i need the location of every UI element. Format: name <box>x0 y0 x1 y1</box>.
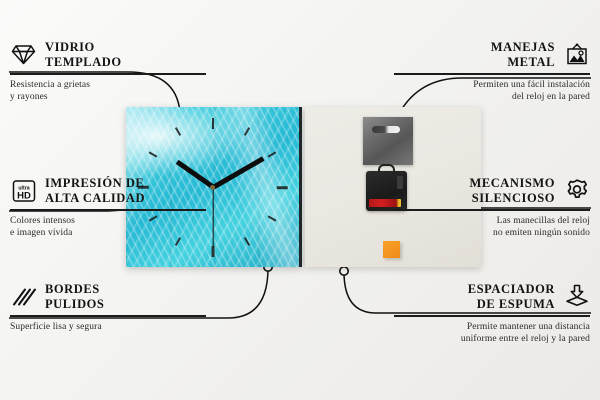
feature-title: MECANISMOSILENCIOSO <box>469 176 555 205</box>
feature-espaciador-espuma[interactable]: ESPACIADORDE ESPUMA Permite mantener una… <box>394 282 590 346</box>
clock-tick <box>212 246 215 257</box>
clock-tick <box>212 118 215 129</box>
press-down-layer-icon <box>563 283 590 310</box>
feature-subtitle: Superficie lisa y segura <box>10 321 206 334</box>
anchor-dot-espaciador <box>340 267 348 275</box>
svg-text:HD: HD <box>17 190 31 201</box>
divider <box>10 209 206 211</box>
feature-title: IMPRESIÓN DEALTA CALIDAD <box>45 176 145 205</box>
hanging-frame-icon <box>563 41 590 68</box>
feature-heading: ESPACIADORDE ESPUMA <box>394 282 590 311</box>
feature-title: BORDESPULIDOS <box>45 282 104 311</box>
movement-hanging-loop <box>378 164 395 173</box>
divider <box>394 315 590 317</box>
feature-subtitle: Colores intensose imagen vívida <box>10 215 206 240</box>
feature-title: ESPACIADORDE ESPUMA <box>468 282 555 311</box>
clock-tick <box>276 186 287 189</box>
divider <box>10 73 206 75</box>
feature-manejas-metal[interactable]: MANEJASMETAL Permiten una fácil instalac… <box>394 40 590 104</box>
infographic-canvas: VIDRIOTEMPLADO Resistencia a grietasy ra… <box>0 0 600 400</box>
feature-subtitle: Permiten una fácil instalacióndel reloj … <box>394 79 590 104</box>
divider <box>394 209 590 211</box>
feature-heading: BORDESPULIDOS <box>10 282 206 311</box>
clock-hub <box>210 185 215 190</box>
hanger-keyhole-slot <box>372 126 400 133</box>
feature-heading: MANEJASMETAL <box>394 40 590 69</box>
foam-spacer-part <box>383 241 400 258</box>
feature-title: MANEJASMETAL <box>491 40 555 69</box>
feature-subtitle: Permite mantener una distanciauniforme e… <box>394 321 590 346</box>
clock-second-hand <box>212 187 213 247</box>
feature-heading: VIDRIOTEMPLADO <box>10 40 206 69</box>
feature-impresion-alta-calidad[interactable]: ultra HD IMPRESIÓN DEALTA CALIDAD Colore… <box>10 176 206 240</box>
feature-bordes-pulidos[interactable]: BORDESPULIDOS Superficie lisa y segura <box>10 282 206 333</box>
feature-title: VIDRIOTEMPLADO <box>45 40 122 69</box>
feature-mecanismo-silencioso[interactable]: MECANISMOSILENCIOSO Las manecillas del r… <box>394 176 590 240</box>
feature-vidrio-templado[interactable]: VIDRIOTEMPLADO Resistencia a grietasy ra… <box>10 40 206 104</box>
feature-subtitle: Resistencia a grietasy rayones <box>10 79 206 104</box>
feature-heading: ultra HD IMPRESIÓN DEALTA CALIDAD <box>10 176 206 205</box>
feature-subtitle: Las manecillas del relojno emiten ningún… <box>394 215 590 240</box>
feature-heading: MECANISMOSILENCIOSO <box>394 176 590 205</box>
gear-icon <box>563 177 590 204</box>
divider <box>394 73 590 75</box>
diamond-icon <box>10 41 37 68</box>
metal-hanger-part <box>363 117 413 165</box>
polished-edges-icon <box>10 283 37 310</box>
ultra-hd-badge-icon: ultra HD <box>10 177 37 204</box>
divider <box>10 315 206 317</box>
